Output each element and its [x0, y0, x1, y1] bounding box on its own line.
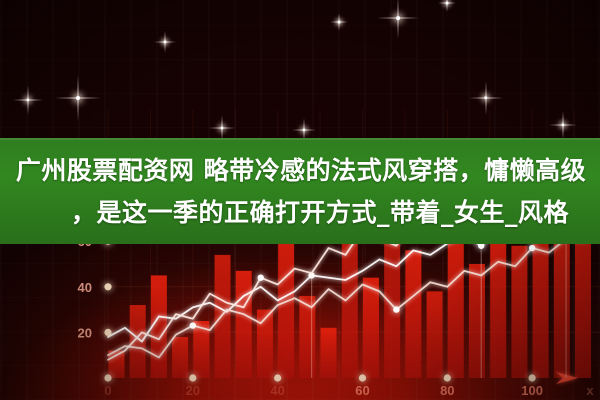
- headline-line-1: 广州股票配资网 略带冷感的法式风穿搭，慵懒高级: [14, 150, 586, 192]
- headline-line-2: ，是这一季的正确打开方式_带着_女生_风格: [31, 192, 569, 234]
- headline-block: 广州股票配资网 略带冷感的法式风穿搭，慵懒高级 ，是这一季的正确打开方式_带着_…: [0, 140, 600, 244]
- banner-image: 20406080100020406080100x 广州股票配资网 略带冷感的法式…: [0, 0, 600, 400]
